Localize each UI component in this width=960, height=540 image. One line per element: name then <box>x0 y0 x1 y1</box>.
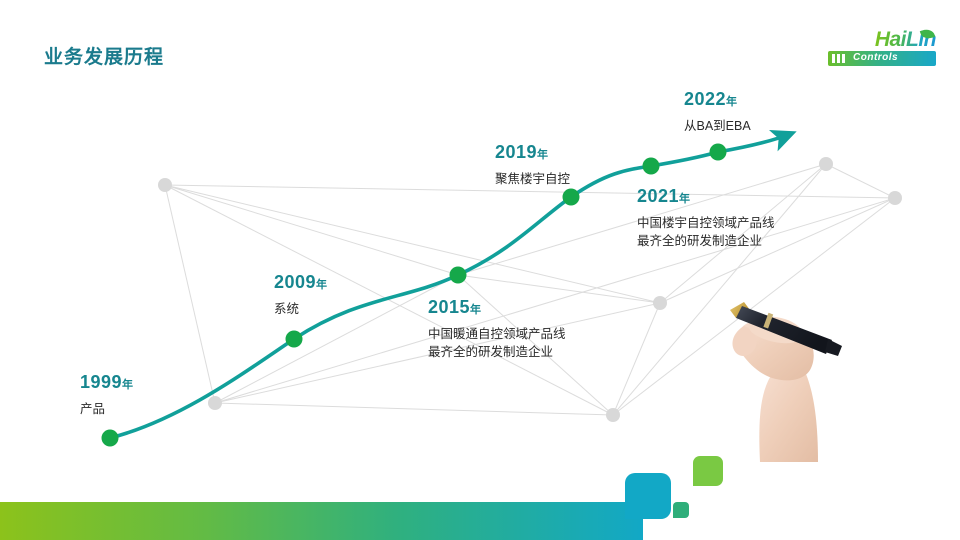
milestone-year: 1999年 <box>80 372 133 393</box>
milestone-1999[interactable]: 1999年 产品 <box>80 372 133 418</box>
milestone-year: 2015年 <box>428 297 566 318</box>
milestone-dot[interactable] <box>102 430 119 447</box>
green-square-decoration <box>693 456 723 486</box>
forearm <box>759 374 818 462</box>
milestone-dot[interactable] <box>450 267 467 284</box>
milestone-description: 中国楼宇自控领域产品线 最齐全的研发制造企业 <box>637 214 775 250</box>
milestone-2009[interactable]: 2009年 系统 <box>274 272 327 318</box>
milestone-dot[interactable] <box>563 189 580 206</box>
milestone-dot[interactable] <box>643 158 660 175</box>
milestone-description: 产品 <box>80 400 133 418</box>
milestone-year: 2019年 <box>495 142 570 163</box>
milestone-dot[interactable] <box>710 144 727 161</box>
milestone-2021[interactable]: 2021年 中国楼宇自控领域产品线 最齐全的研发制造企业 <box>637 186 775 250</box>
milestone-description: 聚焦楼宇自控 <box>495 170 570 188</box>
bottom-gradient-bar <box>0 502 643 540</box>
milestone-2019[interactable]: 2019年 聚焦楼宇自控 <box>495 142 570 188</box>
milestone-description: 从BA到EBA <box>684 117 751 135</box>
teal-square-decoration <box>625 473 671 519</box>
milestone-year: 2021年 <box>637 186 775 207</box>
milestone-year: 2022年 <box>684 89 751 110</box>
small-green-square-decoration <box>673 502 689 518</box>
milestone-dot[interactable] <box>286 331 303 348</box>
milestone-description: 系统 <box>274 300 327 318</box>
milestone-2022[interactable]: 2022年 从BA到EBA <box>684 89 751 135</box>
milestone-2015[interactable]: 2015年 中国暖通自控领域产品线 最齐全的研发制造企业 <box>428 297 566 361</box>
pen-cap-end <box>825 339 842 356</box>
slide-canvas: 业务发展历程 HaiLin Controls <box>0 0 960 540</box>
growth-curve-path <box>110 134 790 438</box>
milestone-year: 2009年 <box>274 272 327 293</box>
milestone-description: 中国暖通自控领域产品线 最齐全的研发制造企业 <box>428 325 566 361</box>
hand-holding-pen-image <box>700 282 880 462</box>
